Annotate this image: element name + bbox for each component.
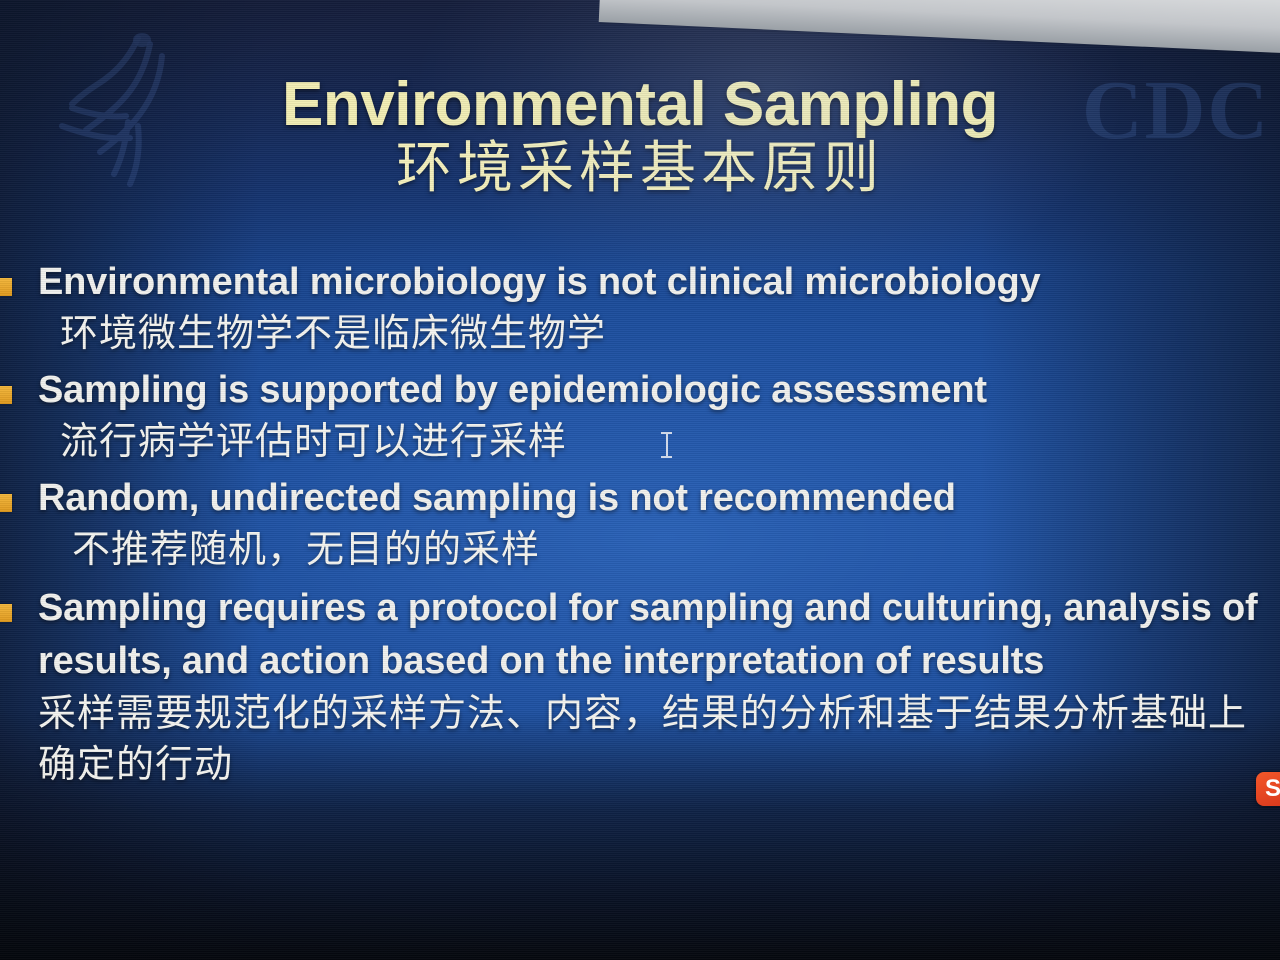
bullet-2-chinese: 流行病学评估时可以进行采样 <box>38 417 1280 468</box>
bullet-item-2: Sampling is supported by epidemiologic a… <box>0 364 1280 468</box>
bullet-item-1: Environmental microbiology is not clinic… <box>0 256 1280 360</box>
bullet-list: Environmental microbiology is not clinic… <box>0 256 1280 790</box>
slide-title-block: Environmental Sampling 环境采样基本原则 <box>0 74 1280 201</box>
bullet-3-chinese: 不推荐随机，无目的的采样 <box>38 525 1280 576</box>
slide-title-english: Environmental Sampling <box>0 74 1280 136</box>
edge-app-icon[interactable]: S <box>1256 772 1280 806</box>
slide-title-chinese: 环境采样基本原则 <box>0 138 1280 201</box>
text-cursor-pointer <box>661 432 672 458</box>
bullet-1-chinese: 环境微生物学不是临床微生物学 <box>38 309 1280 360</box>
bullet-2-english: Sampling is supported by epidemiologic a… <box>38 364 1280 417</box>
bullet-square-icon <box>0 278 12 296</box>
bullet-4-english: Sampling requires a protocol for samplin… <box>38 582 1280 688</box>
bullet-item-3: Random, undirected sampling is not recom… <box>0 472 1280 576</box>
bullet-square-icon <box>0 604 12 622</box>
slide-content: Environmental Sampling 环境采样基本原则 Environm… <box>0 0 1280 960</box>
bullet-square-icon <box>0 494 12 512</box>
bullet-4-chinese: 采样需要规范化的采样方法、内容，结果的分析和基于结果分析基础上确定的行动 <box>0 689 1280 791</box>
bullet-3-english: Random, undirected sampling is not recom… <box>38 472 1280 525</box>
projected-slide-photo: CDC Environmental Sampling 环境采样基本原则 Envi… <box>0 0 1280 960</box>
bullet-item-4: Sampling requires a protocol for samplin… <box>0 582 1280 688</box>
bullet-square-icon <box>0 386 12 404</box>
bullet-1-english: Environmental microbiology is not clinic… <box>38 256 1280 309</box>
